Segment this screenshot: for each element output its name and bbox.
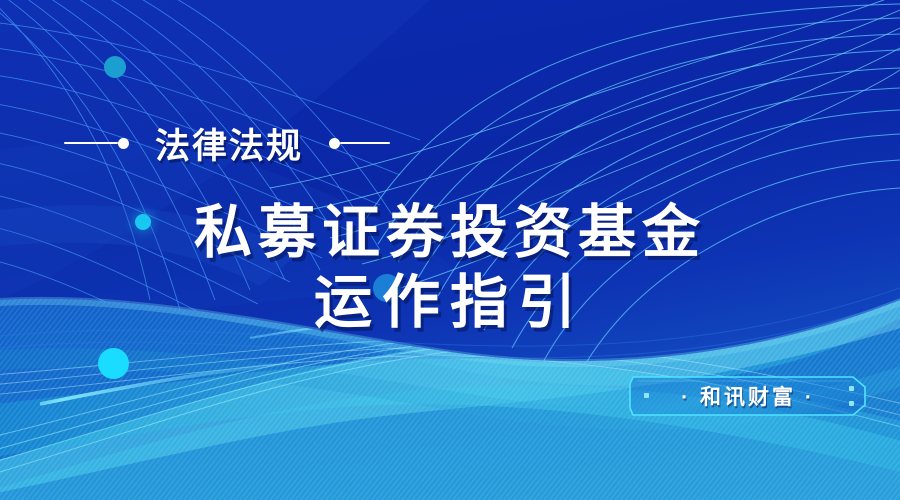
accent-dot-mid-left [135, 214, 151, 230]
right-rule [340, 142, 390, 144]
category-tag-row: 法律法规 [0, 112, 520, 174]
brand-badge-label: · 和讯财富 · [628, 374, 868, 418]
promotional-banner: 法律法规 私募证券投资基金 运作指引 · 和 [0, 0, 900, 500]
accent-dot-center [373, 274, 401, 302]
right-rule-dot [329, 138, 340, 149]
left-rule [64, 142, 118, 144]
brand-badge: · 和讯财富 · [628, 374, 868, 418]
category-tag-label: 法律法规 [155, 118, 303, 169]
accent-dot-lower-left [98, 348, 129, 379]
left-rule-dot [118, 138, 129, 149]
mid-glow-ribbon [0, 0, 900, 500]
accent-dot-top-left [104, 56, 126, 78]
